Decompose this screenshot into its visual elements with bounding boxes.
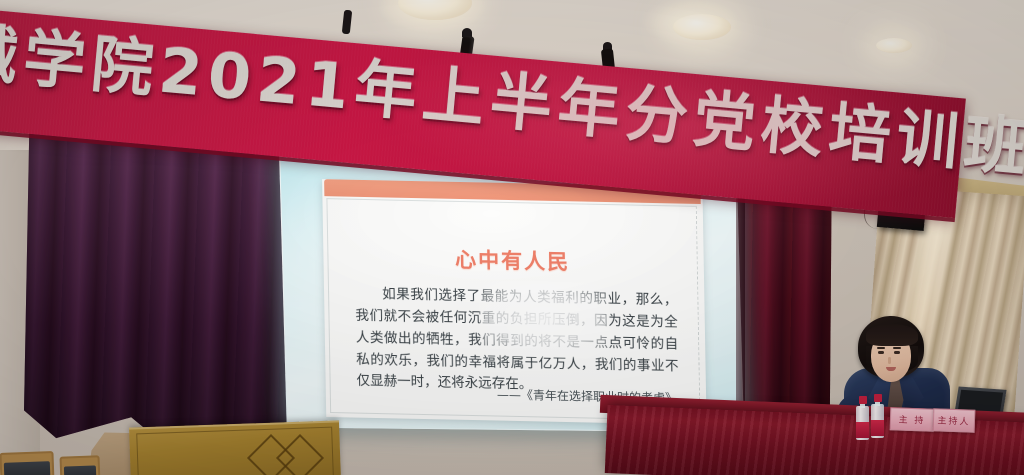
name-card: 主持人: [933, 408, 976, 432]
track-spotlight-icon: [603, 42, 612, 50]
name-card: 主 持: [890, 407, 935, 432]
slide-content-area: 心中有人民 如果我们选择了最能为人类福利的职业，那么，我们就不会被任何沉重的负担…: [326, 198, 700, 421]
eye: [894, 351, 900, 354]
slide-title: 心中有人民: [328, 241, 697, 279]
hair-bangs: [866, 324, 918, 346]
stage-curtain-purple: [24, 118, 292, 466]
track-spotlight-icon: [462, 28, 472, 37]
ceiling-light-icon: [398, 0, 472, 20]
water-bottle: [871, 394, 884, 438]
presentation-slide: 心中有人民 如果我们选择了最能为人类福利的职业，那么，我们就不会被任何沉重的负担…: [322, 179, 707, 425]
wooden-chair: [60, 455, 101, 475]
track-spotlight-icon: [342, 10, 352, 35]
water-bottle: [856, 396, 869, 440]
mouth: [886, 367, 896, 371]
wooden-chair: [0, 451, 55, 475]
slide-body-text: 如果我们选择了最能为人类福利的职业，那么，我们就不会被任何沉重的负担所压倒，因为…: [355, 284, 679, 400]
ceiling-light-icon: [673, 14, 731, 40]
eye: [878, 351, 884, 354]
ceiling-light-icon: [876, 38, 912, 53]
conference-room-photo: 心中有人民 如果我们选择了最能为人类福利的职业，那么，我们就不会被任何沉重的负担…: [0, 0, 1024, 475]
